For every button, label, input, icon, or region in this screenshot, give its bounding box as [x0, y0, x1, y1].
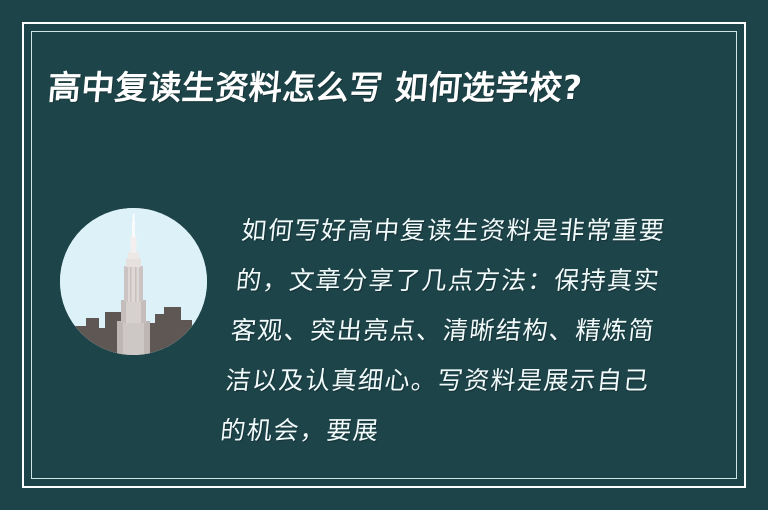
empire-state-building-icon [60, 208, 207, 355]
illustration-circle [60, 208, 207, 355]
article-card: 高中复读生资料怎么写 如何选学校? [0, 0, 768, 510]
page-title: 高中复读生资料怎么写 如何选学校? [46, 62, 651, 114]
article-body-text: 如何写好高中复读生资料是非常重要的，文章分享了几点方法：保持真实客观、突出亮点、… [218, 206, 668, 456]
